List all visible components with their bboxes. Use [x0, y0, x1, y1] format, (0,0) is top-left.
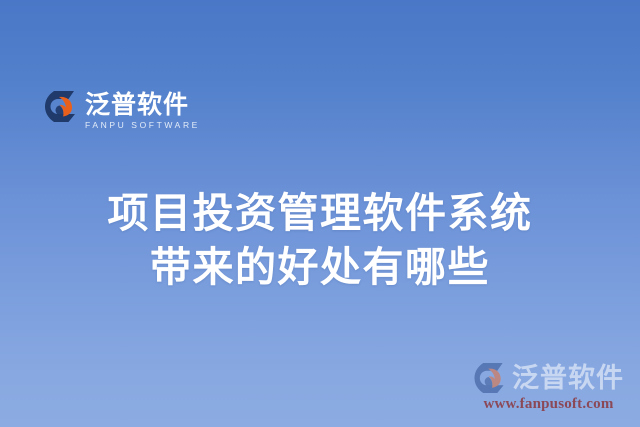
- fanpu-hexagon-swoosh-logo-icon: [473, 362, 507, 394]
- watermark-url: www.fanpusoft.com: [483, 395, 613, 413]
- watermark-company-cn: 泛普软件: [512, 364, 624, 393]
- headline-line-2: 带来的好处有哪些: [0, 240, 640, 294]
- header-logo-company-en: FANPU SOFTWARE: [85, 120, 200, 131]
- headline-block: 项目投资管理软件系统 带来的好处有哪些: [0, 186, 640, 294]
- watermark-logo-row: 泛普软件: [473, 362, 624, 394]
- fanpu-hexagon-swoosh-logo-icon: [44, 90, 78, 123]
- header-logo-text: 泛普软件 FANPU SOFTWARE: [85, 90, 200, 131]
- header-logo[interactable]: 泛普软件 FANPU SOFTWARE: [44, 90, 200, 131]
- header-logo-company-cn: 泛普软件: [85, 91, 200, 118]
- headline-line-1: 项目投资管理软件系统: [0, 186, 640, 240]
- watermark: 泛普软件 www.fanpusoft.com: [473, 362, 624, 413]
- promo-banner: 泛普软件 FANPU SOFTWARE 项目投资管理软件系统 带来的好处有哪些 …: [0, 0, 640, 427]
